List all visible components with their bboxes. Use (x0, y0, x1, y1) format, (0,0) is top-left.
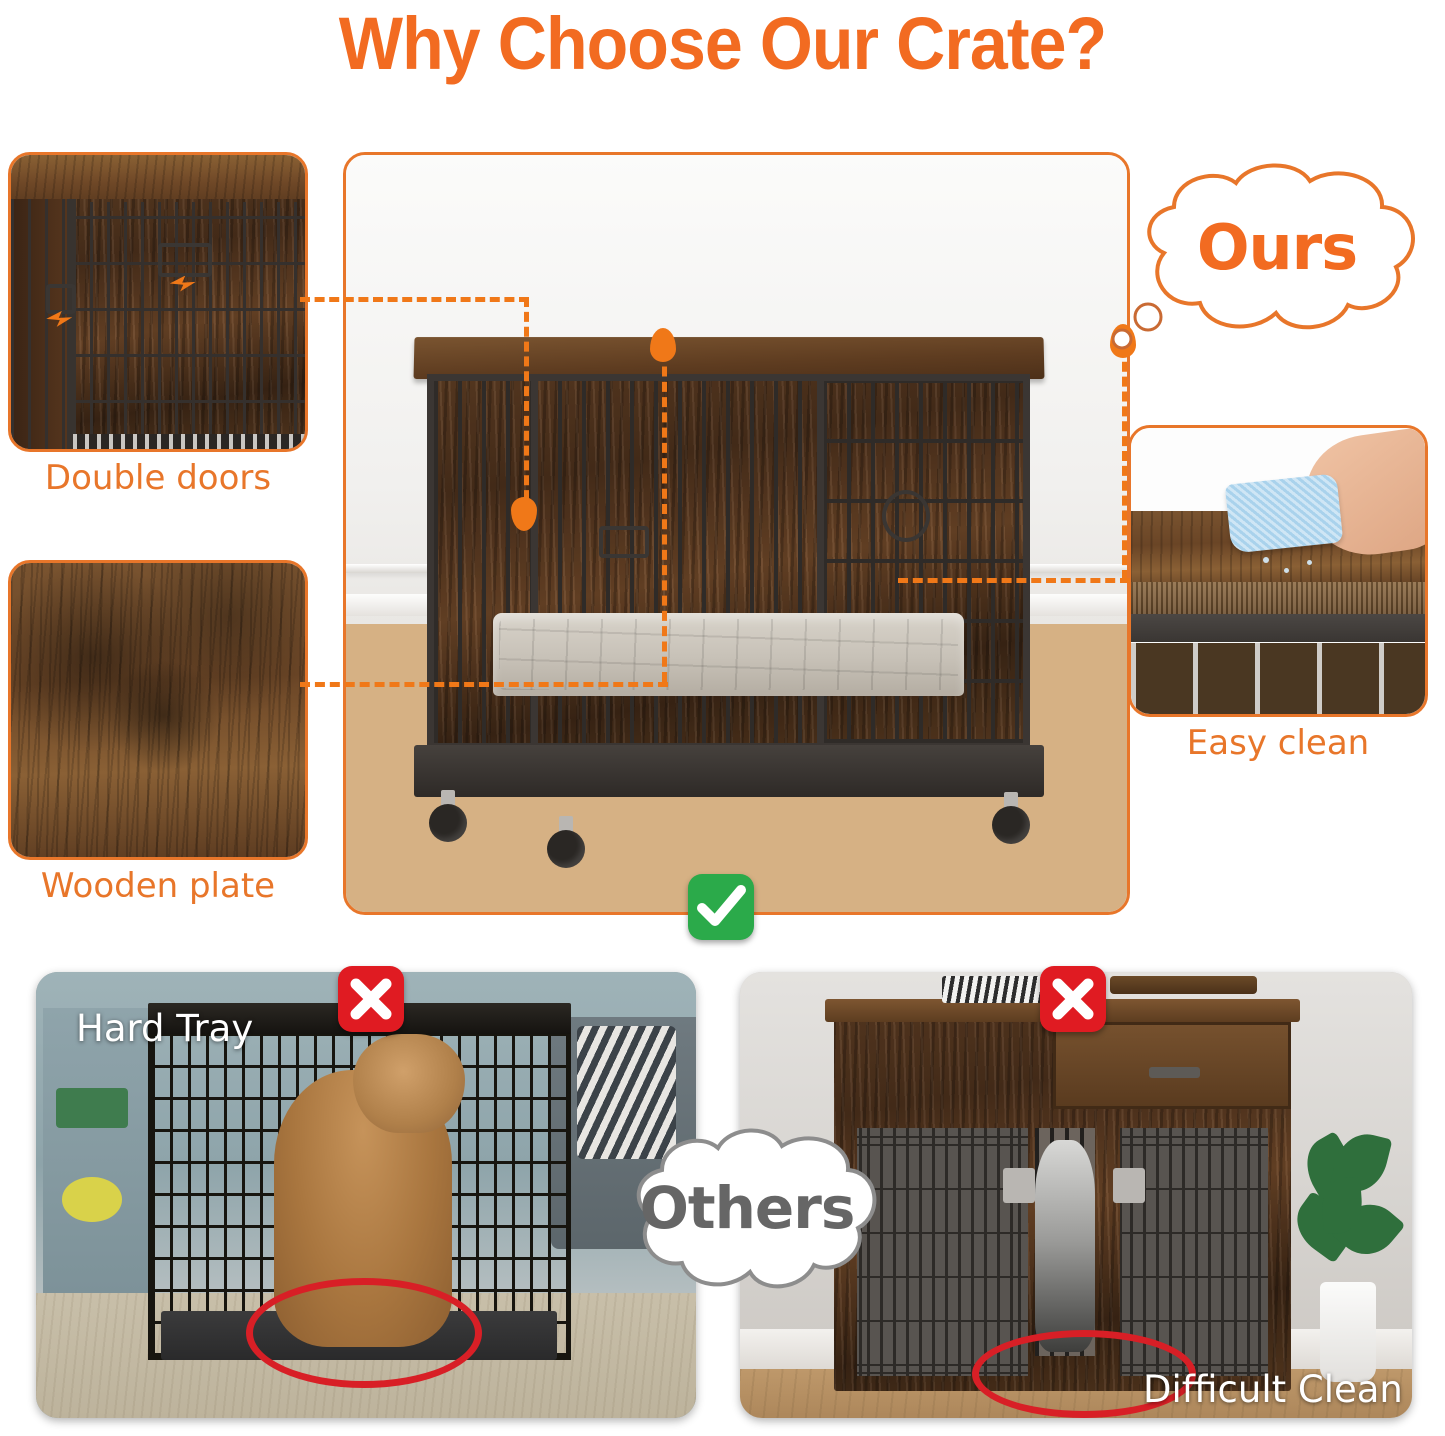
hinge (1003, 1168, 1035, 1203)
crate-door-left (857, 1128, 1028, 1376)
thumbnail-double-doors[interactable] (8, 152, 308, 452)
highlight-ellipse-hard-tray (246, 1278, 482, 1388)
crate-wood-tabletop (413, 337, 1044, 379)
hero-scene (346, 155, 1127, 912)
drawer (1053, 1022, 1291, 1108)
bubble-label-ours: Ours (1112, 211, 1442, 284)
cross-mark-badge-right (1040, 966, 1106, 1032)
double-doors-image (11, 155, 305, 449)
callout-line-easy-clean (898, 578, 1130, 583)
caption-wooden-plate: Wooden plate (8, 866, 308, 906)
caption-double-doors: Double doors (8, 458, 308, 498)
check-mark-badge (688, 874, 754, 940)
thumbnail-easy-clean[interactable] (1128, 425, 1428, 717)
bubble-label-others: Others (612, 1174, 882, 1242)
caption-easy-clean: Easy clean (1128, 723, 1428, 763)
cross-mark-badge-left (338, 966, 404, 1032)
callout-line-double-doors (300, 297, 529, 302)
label-hard-tray: Hard Tray (76, 1007, 253, 1050)
callout-line-center (662, 336, 667, 682)
callout-line-double-doors-drop (524, 297, 529, 515)
drawer-handle (1149, 1067, 1200, 1078)
thumbnail-wooden-plate[interactable] (8, 560, 308, 860)
callout-pin-center-top (650, 328, 676, 362)
label-difficult-clean: Difficult Clean (1143, 1368, 1403, 1411)
page-title: Why Choose Our Crate? (58, 0, 1387, 88)
callout-line-easy-clean-riser (1122, 332, 1127, 580)
hinge (1113, 1168, 1145, 1203)
crate-frame (427, 374, 1031, 749)
hero-product-image[interactable] (343, 152, 1130, 915)
potted-plant (1298, 1133, 1399, 1383)
dog (1035, 1140, 1094, 1352)
wooden-plate-image (11, 563, 305, 857)
speech-bubble-others: Others (612, 1120, 882, 1310)
easy-clean-image (1131, 428, 1425, 714)
dog-head (353, 1034, 465, 1132)
door-latch-side (882, 490, 930, 542)
crate-base-tray (414, 745, 1044, 797)
caster-wheel (545, 816, 585, 868)
door-latch-front (599, 526, 649, 558)
caster-wheel (427, 790, 467, 842)
cleaning-cloth (1225, 474, 1343, 554)
dog-crate-furniture (401, 337, 1057, 806)
caster-wheel (990, 792, 1030, 844)
speech-bubble-ours: Ours (1112, 155, 1442, 350)
callout-line-wooden-plate (300, 682, 668, 687)
